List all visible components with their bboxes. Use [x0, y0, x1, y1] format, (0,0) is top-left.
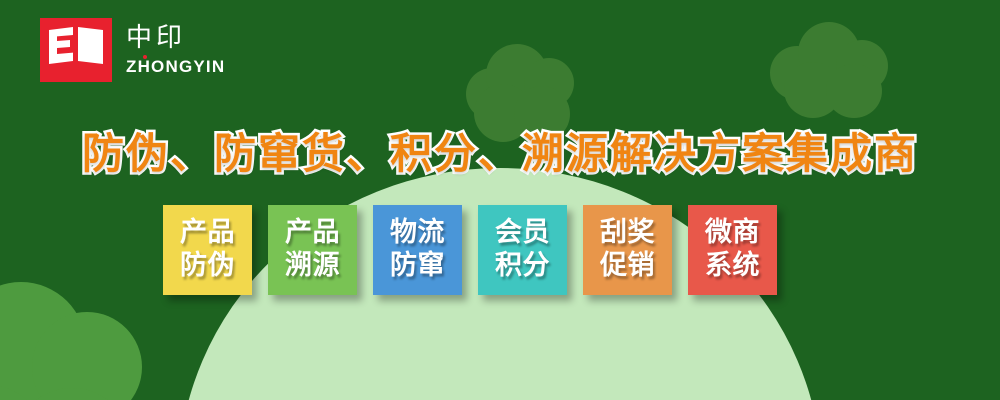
brand-logo[interactable]: 中印 ZHONGYIN: [40, 18, 225, 82]
badge-line-1: 产品: [180, 217, 235, 250]
badge-wechat-business-system[interactable]: 微商 系统: [688, 205, 777, 295]
badge-line-2: 防窜: [390, 250, 445, 283]
badge-line-1: 会员: [495, 217, 550, 250]
page-title: 防伪、防窜货、积分、溯源解决方案集成商: [0, 120, 1000, 181]
bush-cluster-icon: [770, 20, 890, 116]
accent-dot-icon: [143, 55, 147, 59]
book-logo-icon: [40, 18, 112, 82]
badge-member-points[interactable]: 会员 积分: [478, 205, 567, 295]
badge-product-anticounterfeit[interactable]: 产品 防伪: [163, 205, 252, 295]
badge-line-2: 系统: [705, 250, 760, 283]
badge-logistics-antidiversion[interactable]: 物流 防窜: [373, 205, 462, 295]
badge-line-2: 促销: [600, 250, 655, 283]
badge-scratch-promotion[interactable]: 刮奖 促销: [583, 205, 672, 295]
service-badge-list: 产品 防伪 产品 溯源 物流 防窜 会员 积分 刮奖 促销 微商 系统: [163, 205, 777, 295]
badge-line-2: 积分: [495, 250, 550, 283]
badge-line-2: 防伪: [180, 250, 235, 283]
brand-name-cn: 中印: [126, 25, 225, 51]
brand-name-pinyin: ZHONGYIN: [126, 58, 225, 75]
brand-name-pinyin-text: ZHONGYIN: [126, 57, 225, 76]
badge-line-1: 产品: [285, 217, 340, 250]
badge-line-2: 溯源: [285, 250, 340, 283]
badge-line-1: 刮奖: [600, 217, 655, 250]
badge-product-traceability[interactable]: 产品 溯源: [268, 205, 357, 295]
promo-banner: 中印 ZHONGYIN 防伪、防窜货、积分、溯源解决方案集成商 产品 防伪 产品…: [0, 0, 1000, 400]
badge-line-1: 物流: [390, 217, 445, 250]
badge-line-1: 微商: [705, 217, 760, 250]
brand-wordmark: 中印 ZHONGYIN: [126, 25, 225, 75]
